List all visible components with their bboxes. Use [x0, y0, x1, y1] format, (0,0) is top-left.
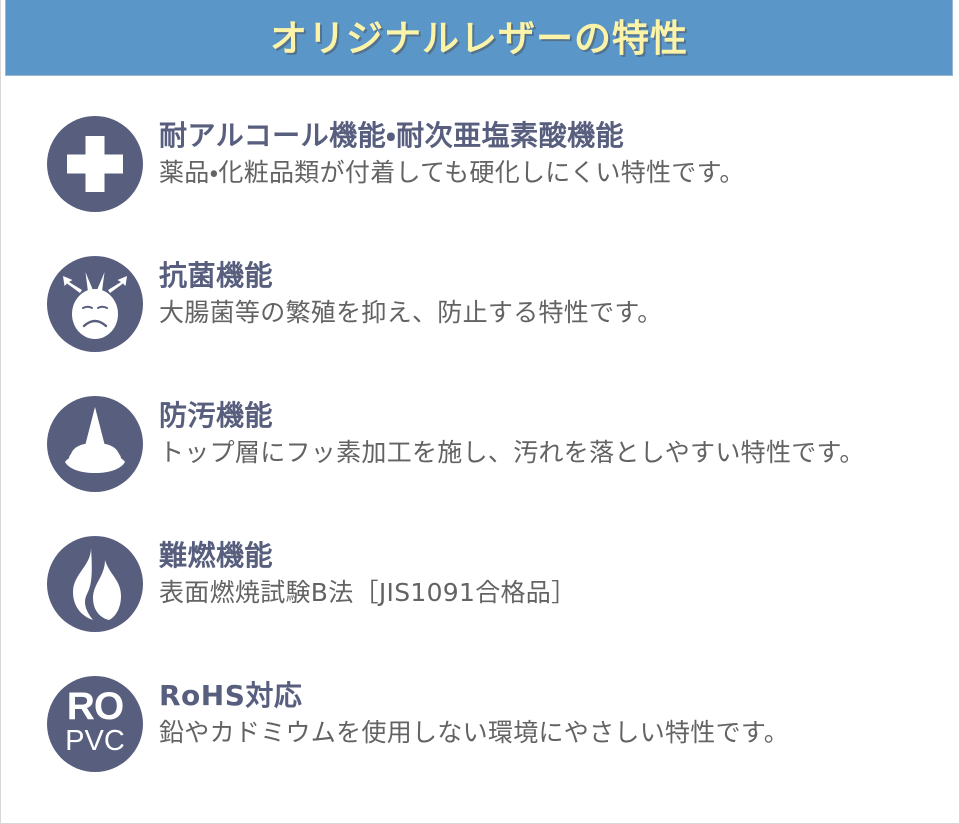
feature-item-rohs: RO PVC RoHS対応 鉛やカドミウムを使用しない環境にやさしい特性です。: [1, 664, 959, 804]
feature-item-stain-resistance: 防汚機能 トップ層にフッ素加工を施し、汚れを落としやすい特性です。: [1, 384, 959, 524]
feature-title: 防汚機能: [159, 398, 959, 433]
feature-text-block: 難燃機能 表面燃焼試験B法［JIS1091合格品］: [143, 524, 959, 609]
page-header-banner: オリジナルレザーの特性: [5, 0, 953, 76]
feature-sheet-page: オリジナルレザーの特性 耐アルコール機能・耐次亜塩素酸機能 薬品・化粧品類が付着…: [0, 0, 960, 824]
rohs-icon-primary-text: RO: [47, 687, 143, 726]
feature-title: 耐アルコール機能・耐次亜塩素酸機能: [159, 118, 959, 153]
feature-description: 鉛やカドミウムを使用しない環境にやさしい特性です。: [159, 717, 959, 749]
feature-description: トップ層にフッ素加工を施し、汚れを落としやすい特性です。: [159, 437, 959, 469]
water-repellent-droplet-icon: [47, 396, 143, 492]
germ-face-glyph: [47, 256, 143, 352]
medical-cross-icon: [47, 116, 143, 212]
feature-text-block: 抗菌機能 大腸菌等の繁殖を抑え、防止する特性です。: [143, 244, 959, 329]
feature-item-antibacterial: 抗菌機能 大腸菌等の繁殖を抑え、防止する特性です。: [1, 244, 959, 384]
rohs-pvc-icon: RO PVC: [47, 676, 143, 772]
feature-list: 耐アルコール機能・耐次亜塩素酸機能 薬品・化粧品類が付着しても硬化しにくい特性で…: [1, 76, 959, 804]
feature-title: RoHS対応: [159, 678, 959, 713]
feature-description: 表面燃焼試験B法［JIS1091合格品］: [159, 577, 959, 609]
page-title: オリジナルレザーの特性: [270, 20, 688, 57]
feature-description: 大腸菌等の繁殖を抑え、防止する特性です。: [159, 297, 959, 329]
flame-icon: [47, 536, 143, 632]
double-flame-glyph: [47, 536, 143, 632]
feature-title: 難燃機能: [159, 538, 959, 573]
feature-text-block: 防汚機能 トップ層にフッ素加工を施し、汚れを落としやすい特性です。: [143, 384, 959, 469]
medical-cross-glyph: [47, 116, 143, 212]
antibacterial-germ-icon: [47, 256, 143, 352]
rohs-icon-secondary-text: PVC: [47, 727, 143, 756]
feature-title: 抗菌機能: [159, 258, 959, 293]
feature-item-flame-retardant: 難燃機能 表面燃焼試験B法［JIS1091合格品］: [1, 524, 959, 664]
feature-description: 薬品・化粧品類が付着しても硬化しにくい特性です。: [159, 157, 959, 189]
feature-item-alcohol-resistance: 耐アルコール機能・耐次亜塩素酸機能 薬品・化粧品類が付着しても硬化しにくい特性で…: [1, 104, 959, 244]
feature-text-block: 耐アルコール機能・耐次亜塩素酸機能 薬品・化粧品類が付着しても硬化しにくい特性で…: [143, 104, 959, 189]
droplet-on-surface-glyph: [47, 396, 143, 492]
feature-text-block: RoHS対応 鉛やカドミウムを使用しない環境にやさしい特性です。: [143, 664, 959, 749]
